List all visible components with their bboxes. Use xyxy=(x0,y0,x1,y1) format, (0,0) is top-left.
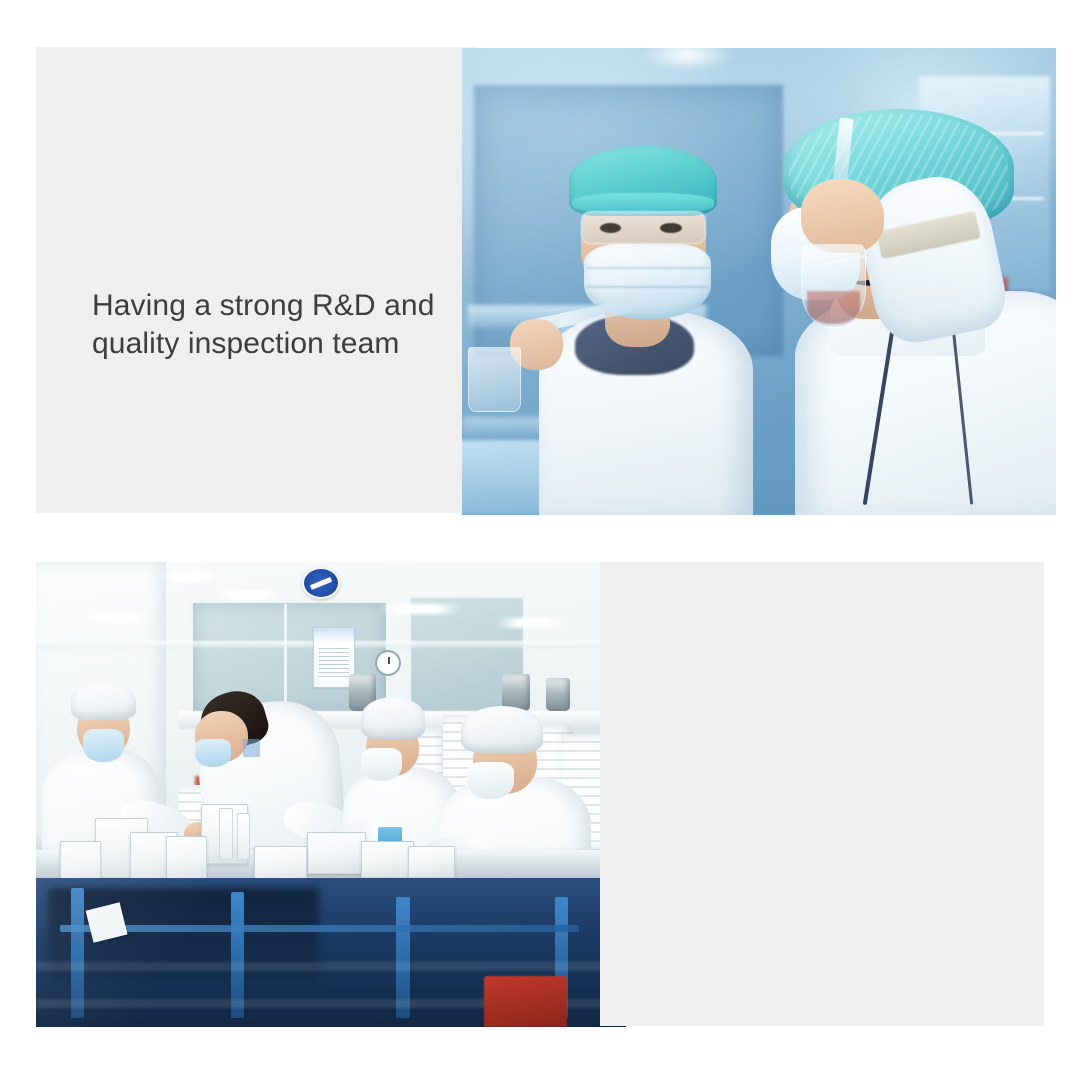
page-root: Having a strong R&D and quality inspecti… xyxy=(0,0,1080,1080)
packing-worker-center-mask xyxy=(195,739,230,767)
lab-ceiling-light xyxy=(640,48,735,71)
packing-worker-right-mask xyxy=(361,748,402,781)
caption-panel-bottom: a warehouse distribution area a warehous… xyxy=(600,562,1044,1026)
white-bottle-1 xyxy=(219,808,233,859)
packing-worker-left-hairnet xyxy=(71,683,136,720)
lab-flask-liquid xyxy=(807,291,860,324)
technician-front-eye-right xyxy=(660,223,681,233)
ceiling-light-2 xyxy=(213,590,284,600)
packing-worker-foreground-hairnet xyxy=(461,706,544,753)
packing-worker-center-badge xyxy=(243,739,261,758)
caption-panel-top: Having a strong R&D and quality inspecti… xyxy=(36,47,476,513)
technician-front-eye-left xyxy=(600,223,621,233)
ceiling-light-3 xyxy=(378,604,461,614)
stainless-pot-3 xyxy=(546,678,570,711)
blue-circular-sign-icon xyxy=(302,567,340,600)
technician-front-mask-fold-1 xyxy=(587,267,709,269)
section-warehouse-areas: a warehouse distribution area a warehous… xyxy=(0,530,1080,1080)
floor-stripe-1 xyxy=(36,962,626,971)
table-cross-rail xyxy=(60,925,579,932)
technician-raised-hand xyxy=(801,179,884,254)
packing-worker-foreground-mask xyxy=(467,762,514,799)
packing-worker-right-hairnet xyxy=(361,697,426,739)
carton-on-table-5 xyxy=(307,832,366,874)
technician-front-mask-fold-2 xyxy=(587,286,709,288)
warehouse-packing-photo xyxy=(36,562,626,1027)
carton-on-table-4 xyxy=(166,836,207,883)
packing-photo-content xyxy=(36,562,626,1027)
carton-on-table-9 xyxy=(408,846,455,879)
ceiling-light-5 xyxy=(160,571,219,581)
ceiling-light-1 xyxy=(83,613,148,623)
red-crate-foreground xyxy=(484,976,567,1027)
lab-quality-inspection-photo xyxy=(462,48,1056,515)
white-bottle-2 xyxy=(237,813,250,860)
ceiling-light-4 xyxy=(496,618,567,628)
packing-worker-left-mask xyxy=(83,729,124,762)
lab-beaker xyxy=(468,347,521,412)
carton-on-table-7 xyxy=(361,841,414,878)
cleanroom-window-mullion xyxy=(284,604,287,716)
lab-photo-content xyxy=(462,48,1056,515)
section-rnd-quality: Having a strong R&D and quality inspecti… xyxy=(0,0,1080,530)
caption-rnd-quality: Having a strong R&D and quality inspecti… xyxy=(92,287,492,364)
